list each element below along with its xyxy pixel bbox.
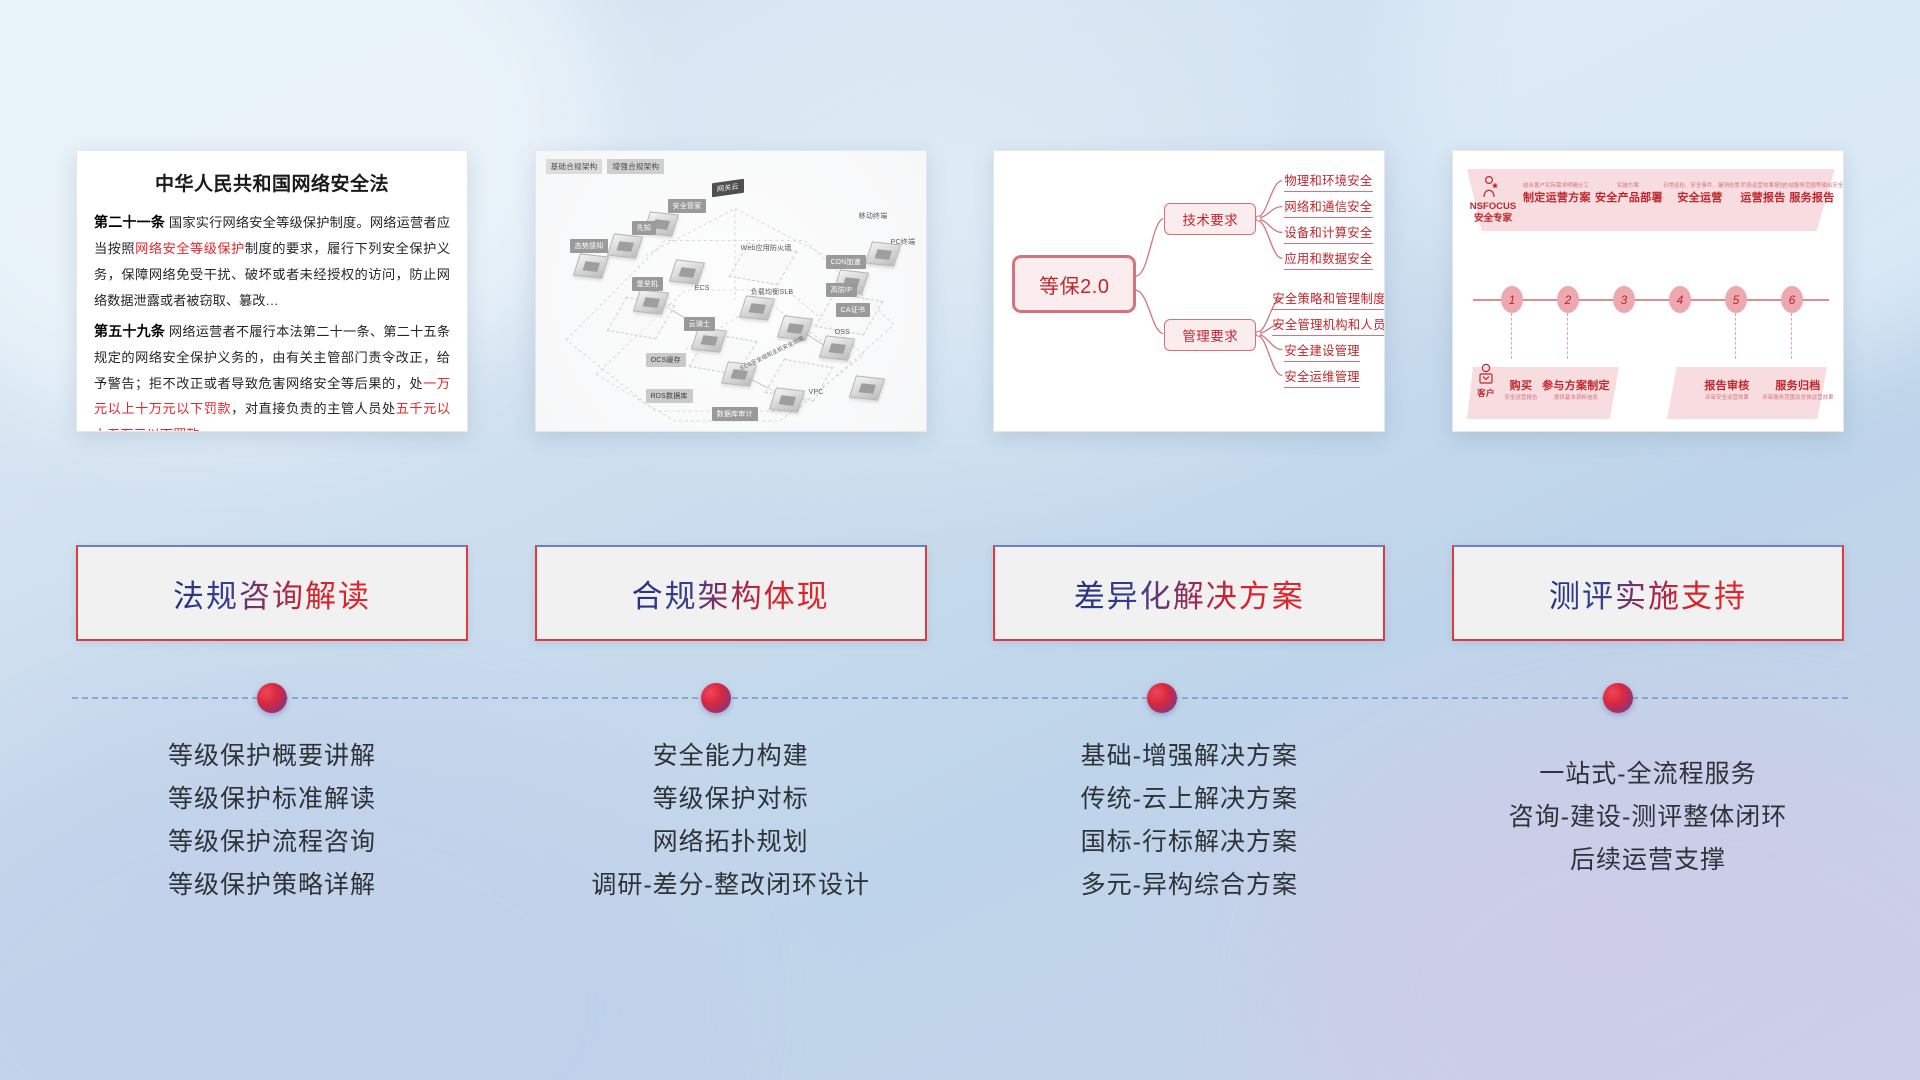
expert-brand-line1: NSFOCUS xyxy=(1467,201,1519,213)
architecture-diagram: 基础合规架构 增强合规架构 xyxy=(536,151,926,431)
law-article-number: 第五十九条 xyxy=(94,323,165,339)
expert-brand: NSFOCUS 安全专家 xyxy=(1467,201,1519,225)
list-item: 调研-差分-整改闭环设计 xyxy=(591,864,870,907)
slide-canvas: 中华人民共和国网络安全法 第二十一条 国家实行网络安全等级保护制度。网络运营者应… xyxy=(0,0,1920,1080)
timeline-axis xyxy=(1473,299,1829,301)
heading-box-regulation-consulting[interactable]: 法规咨询解读 xyxy=(76,545,468,641)
law-article-number: 第二十一条 xyxy=(94,214,165,230)
architecture-node-label: 云骑士 xyxy=(684,317,716,331)
list-item: 基础-增强解决方案 xyxy=(1081,735,1298,778)
expert-stage: 日常巡检、安全事件、漏洞处置 安全运营 xyxy=(1663,181,1737,205)
card-dengbao-mindmap[interactable]: 等保2.0 技术要求 管理要求 物理和环境安全 网络和通信安全 设备和计算安全 … xyxy=(993,150,1385,432)
architecture-node-label: 堡垒机 xyxy=(632,277,664,291)
heading-label: 法规咨询解读 xyxy=(173,571,371,616)
card-cybersecurity-law[interactable]: 中华人民共和国网络安全法 第二十一条 国家实行网络安全等级保护制度。网络运营者应… xyxy=(76,150,468,432)
mindmap-leaf: 安全策略和管理制度 xyxy=(1272,289,1385,310)
timeline-step-marker[interactable]: 1 xyxy=(1501,286,1523,313)
architecture-node-label: OCS缓存 xyxy=(646,353,686,367)
mindmap-leaf: 安全管理机构和人员 xyxy=(1272,315,1385,336)
architecture-node-label: 安全管家 xyxy=(668,199,707,213)
law-body: 第二十一条 国家实行网络安全等级保护制度。网络运营者应当按照网络安全等级保护制度… xyxy=(77,209,467,432)
law-text-segment: ，对直接负责的主管人员处 xyxy=(231,401,396,416)
architecture-node-label: 态势感知 xyxy=(570,239,609,253)
list-item: 一站式-全流程服务 xyxy=(1539,753,1756,796)
nsfocus-timeline: NSFOCUS 安全专家 结合客户实际需求明确分工 制定运营方案 实施方案 安全… xyxy=(1453,151,1843,431)
timeline-dashed-line xyxy=(72,697,1848,699)
mindmap-leaf: 物理和环境安全 xyxy=(1284,171,1372,192)
mindmap-branch-label: 技术要求 xyxy=(1182,209,1238,229)
expert-stage-main: 安全运营 xyxy=(1663,189,1737,205)
mindmap-leaf: 安全运维管理 xyxy=(1284,367,1360,388)
timeline-drop-line xyxy=(1791,313,1792,359)
customer-stage-main: 参与方案制定 xyxy=(1541,377,1611,393)
customer-stage-sub: 安全运营报告 xyxy=(1501,393,1541,401)
expert-stage-main: 制定运营方案 xyxy=(1523,189,1589,205)
law-paragraph: 第二十一条 国家实行网络安全等级保护制度。网络运营者应当按照网络安全等级保护制度… xyxy=(94,209,450,314)
architecture-node-label: Web应用防火墙 xyxy=(736,241,797,255)
expert-stage-sub: 结合客户实际需求明确分工 xyxy=(1523,181,1589,189)
list-column-differentiated-solution: 基础-增强解决方案 传统-云上解决方案 国标-行标解决方案 多元-异构综合方案 xyxy=(993,735,1385,907)
expert-stage-sub: 总结服务范围等输出安全运营成果 xyxy=(1783,181,1841,189)
heading-label: 合规架构体现 xyxy=(632,571,830,616)
mindmap-leaf: 应用和数据安全 xyxy=(1284,249,1372,270)
customer-stage: 购买 安全运营报告 xyxy=(1501,377,1541,401)
timeline-drop-line xyxy=(1511,313,1512,359)
timeline-step-marker[interactable]: 6 xyxy=(1781,286,1803,313)
customer-stage: 参与方案制定 提供基本资料信息 xyxy=(1541,377,1611,401)
list-item: 传统-云上解决方案 xyxy=(1081,778,1298,821)
heading-box-differentiated-solution[interactable]: 差异化解决方案 xyxy=(993,545,1385,641)
card-compliance-architecture[interactable]: 基础合规架构 增强合规架构 xyxy=(535,150,927,432)
top-card-row: 中华人民共和国网络安全法 第二十一条 国家实行网络安全等级保护制度。网络运营者应… xyxy=(76,150,1844,440)
expert-stage-main: 服务报告 xyxy=(1783,189,1841,205)
mindmap-branch-label: 管理要求 xyxy=(1182,325,1238,345)
list-item: 安全能力构建 xyxy=(653,735,809,778)
expert-stage-sub: 日常巡检、安全事件、漏洞处置 xyxy=(1663,181,1737,189)
customer-person-icon xyxy=(1477,363,1495,387)
expert-stage: 总结服务范围等输出安全运营成果 服务报告 xyxy=(1783,181,1841,205)
mindmap-root-label: 等保2.0 xyxy=(1039,270,1109,299)
architecture-node-label: OSS xyxy=(830,327,855,338)
mindmap-branch-management[interactable]: 管理要求 xyxy=(1164,319,1256,351)
list-column-compliance-architecture: 安全能力构建 等级保护对标 网络拓扑规划 调研-差分-整改闭环设计 xyxy=(535,735,927,907)
expert-stage-sub: 实施方案 xyxy=(1595,181,1661,189)
customer-stage-sub: 评审安全运营效果 xyxy=(1697,393,1757,401)
heading-box-row: 法规咨询解读 合规架构体现 差异化解决方案 测评实施支持 xyxy=(76,545,1844,641)
customer-label-text: 客户 xyxy=(1471,387,1501,399)
customer-stage-main: 报告审核 xyxy=(1697,377,1757,393)
customer-stage-sub: 评审服务范围及总体运营效果 xyxy=(1761,393,1835,401)
list-item: 等级保护对标 xyxy=(653,778,809,821)
expert-person-icon xyxy=(1481,175,1499,199)
timeline-node-2[interactable] xyxy=(701,683,731,713)
architecture-node-label: VPC xyxy=(804,387,829,398)
mindmap-leaf: 安全建设管理 xyxy=(1284,341,1360,362)
bottom-list-row: 等级保护概要讲解 等级保护标准解读 等级保护流程咨询 等级保护策略详解 安全能力… xyxy=(76,735,1844,907)
heading-box-evaluation-support[interactable]: 测评实施支持 xyxy=(1452,545,1844,641)
heading-label: 差异化解决方案 xyxy=(1074,571,1305,616)
law-highlight-segment: 网络安全等级保护 xyxy=(135,241,245,256)
architecture-node-label: PC终端 xyxy=(886,235,921,249)
expert-brand-line2: 安全专家 xyxy=(1467,213,1519,225)
architecture-node-label: RDS数据库 xyxy=(646,389,693,403)
timeline-node-3[interactable] xyxy=(1147,683,1177,713)
customer-stage-sub: 提供基本资料信息 xyxy=(1541,393,1611,401)
list-item: 多元-异构综合方案 xyxy=(1081,864,1298,907)
architecture-node-label: 高防IP xyxy=(826,283,857,297)
list-item: 等级保护流程咨询 xyxy=(168,821,376,864)
expert-stage: 实施方案 安全产品部署 xyxy=(1595,181,1661,205)
law-paragraph: 第五十九条 网络运营者不履行本法第二十一条、第二十五条规定的网络安全保护义务的，… xyxy=(94,318,450,433)
architecture-node-label: 先知 xyxy=(632,221,656,235)
list-item: 咨询-建设-测评整体闭环 xyxy=(1509,796,1788,839)
list-item: 等级保护标准解读 xyxy=(168,778,376,821)
customer-stage: 服务归档 评审服务范围及总体运营效果 xyxy=(1761,377,1835,401)
mindmap-branch-technical[interactable]: 技术要求 xyxy=(1164,203,1256,235)
timeline-step-marker[interactable]: 5 xyxy=(1725,286,1747,313)
customer-label: 客户 xyxy=(1471,387,1501,399)
timeline-step-marker[interactable]: 4 xyxy=(1669,286,1691,313)
timeline-step-marker[interactable]: 3 xyxy=(1613,286,1635,313)
customer-stage-main: 服务归档 xyxy=(1761,377,1835,393)
architecture-node-label: 数据库审计 xyxy=(712,407,758,421)
timeline-drop-line xyxy=(1735,313,1736,359)
mindmap-leaf: 网络和通信安全 xyxy=(1284,197,1372,218)
law-title: 中华人民共和国网络安全法 xyxy=(77,169,467,196)
list-item: 后续运营支撑 xyxy=(1570,839,1726,882)
architecture-node-label: 移动终端 xyxy=(854,209,893,223)
architecture-node-label: 负载均衡SLB xyxy=(746,285,799,299)
heading-label: 测评实施支持 xyxy=(1549,571,1747,616)
list-item: 国标-行标解决方案 xyxy=(1081,821,1298,864)
heading-box-compliance-architecture[interactable]: 合规架构体现 xyxy=(535,545,927,641)
list-column-regulation-consulting: 等级保护概要讲解 等级保护标准解读 等级保护流程咨询 等级保护策略详解 xyxy=(76,735,468,907)
list-column-evaluation-support: 一站式-全流程服务 咨询-建设-测评整体闭环 后续运营支撑 xyxy=(1452,735,1844,907)
timeline-node-4[interactable] xyxy=(1603,683,1633,713)
architecture-node-label: CA证书 xyxy=(836,303,871,317)
timeline-step-marker[interactable]: 2 xyxy=(1557,286,1579,313)
customer-stage-main: 购买 xyxy=(1501,377,1541,393)
timeline-node-1[interactable] xyxy=(257,683,287,713)
expert-stage: 结合客户实际需求明确分工 制定运营方案 xyxy=(1523,181,1589,205)
expert-stage-main: 安全产品部署 xyxy=(1595,189,1661,205)
list-item: 等级保护概要讲解 xyxy=(168,735,376,778)
mindmap-root-node[interactable]: 等保2.0 xyxy=(1012,255,1136,313)
architecture-node-label: ECS xyxy=(690,283,715,294)
mindmap: 等保2.0 技术要求 管理要求 物理和环境安全 网络和通信安全 设备和计算安全 … xyxy=(994,151,1384,431)
list-item: 等级保护策略详解 xyxy=(168,864,376,907)
customer-stage: 报告审核 评审安全运营效果 xyxy=(1697,377,1757,401)
architecture-node-label: CDN加速 xyxy=(826,255,866,269)
list-item: 网络拓扑规划 xyxy=(653,821,809,864)
timeline-drop-line xyxy=(1567,313,1568,359)
card-nsfocus-service-timeline[interactable]: NSFOCUS 安全专家 结合客户实际需求明确分工 制定运营方案 实施方案 安全… xyxy=(1452,150,1844,432)
mindmap-leaf: 设备和计算安全 xyxy=(1284,223,1372,244)
